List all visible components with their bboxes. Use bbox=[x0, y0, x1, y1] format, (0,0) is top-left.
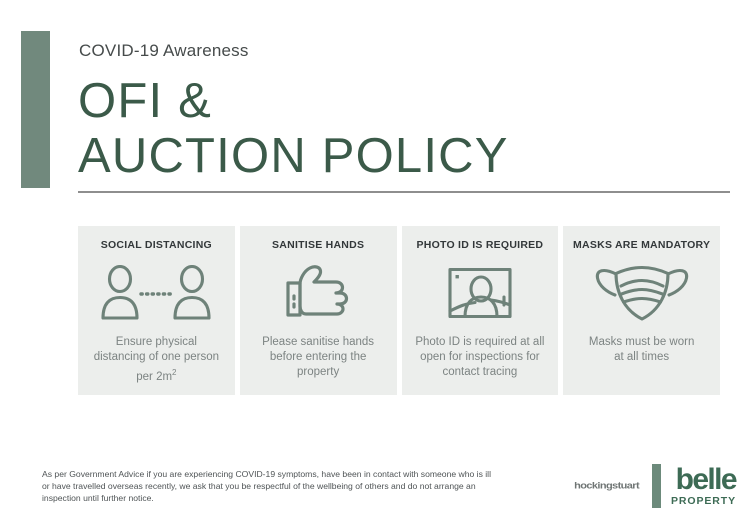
card-body-line-3: contact tracing bbox=[442, 366, 517, 378]
brand-logos: hockingstuart belle PROPERTY bbox=[574, 462, 736, 510]
card-body-line-2: distancing of one person bbox=[94, 351, 219, 363]
policy-card-photo-id: PHOTO ID IS REQUIRED Photo ID is require… bbox=[402, 226, 559, 395]
face-mask-icon bbox=[563, 257, 720, 329]
policy-card-sanitise-hands: SANITISE HANDS Please sanitise hands bef… bbox=[240, 226, 397, 395]
accent-bar bbox=[21, 31, 50, 188]
photo-id-card-icon bbox=[402, 257, 559, 329]
card-body: Masks must be worn at all times bbox=[577, 335, 706, 365]
card-body-line-1: Masks must be worn bbox=[589, 336, 694, 348]
card-title: PHOTO ID IS REQUIRED bbox=[417, 239, 544, 251]
page-title-line-1: OFI & bbox=[78, 74, 509, 129]
card-body-line-1: Ensure physical bbox=[116, 336, 197, 348]
hand-icon bbox=[240, 257, 397, 329]
card-body-line-2: open for inspections for bbox=[420, 351, 540, 363]
card-body-line-2: at all times bbox=[614, 351, 669, 363]
card-title: MASKS ARE MANDATORY bbox=[573, 239, 710, 251]
card-body-line-3: property bbox=[297, 366, 339, 378]
card-body-line-2: before entering the bbox=[270, 351, 367, 363]
card-title: SANITISE HANDS bbox=[272, 239, 364, 251]
government-advice-note: As per Government Advice if you are expe… bbox=[42, 468, 497, 504]
covid-policy-poster: { "theme": { "accent_green": "#71897d", … bbox=[0, 0, 750, 530]
title-divider bbox=[78, 191, 730, 193]
card-body: Photo ID is required at all open for ins… bbox=[403, 335, 556, 380]
policy-card-masks: MASKS ARE MANDATORY Masks must be worn a… bbox=[563, 226, 720, 395]
card-body-superscript: 2 bbox=[172, 368, 176, 377]
card-body: Please sanitise hands before entering th… bbox=[250, 335, 386, 380]
hockingstuart-logo: hockingstuart bbox=[574, 481, 639, 491]
card-body-line-3: per 2m bbox=[136, 371, 172, 383]
belle-logo-subtitle: PROPERTY bbox=[671, 495, 736, 507]
policy-card-row: SOCIAL DISTANCING Ensure physical distan… bbox=[78, 226, 720, 395]
belle-logo-wordmark: belle bbox=[676, 466, 736, 494]
belle-property-logo: belle PROPERTY bbox=[671, 466, 736, 507]
two-people-distanced-icon bbox=[78, 257, 235, 329]
card-body-line-1: Photo ID is required at all bbox=[415, 336, 544, 348]
logo-divider-bar bbox=[652, 464, 661, 508]
page-title: OFI & AUCTION POLICY bbox=[78, 74, 509, 184]
card-title: SOCIAL DISTANCING bbox=[101, 239, 212, 251]
poster-header: COVID-19 Awareness OFI & AUCTION POLICY bbox=[0, 0, 750, 200]
card-body: Ensure physical distancing of one person… bbox=[82, 335, 231, 385]
page-title-line-2: AUCTION POLICY bbox=[78, 129, 509, 184]
page-eyebrow: COVID-19 Awareness bbox=[79, 41, 249, 61]
card-body-line-1: Please sanitise hands bbox=[262, 336, 374, 348]
policy-card-social-distancing: SOCIAL DISTANCING Ensure physical distan… bbox=[78, 226, 235, 395]
